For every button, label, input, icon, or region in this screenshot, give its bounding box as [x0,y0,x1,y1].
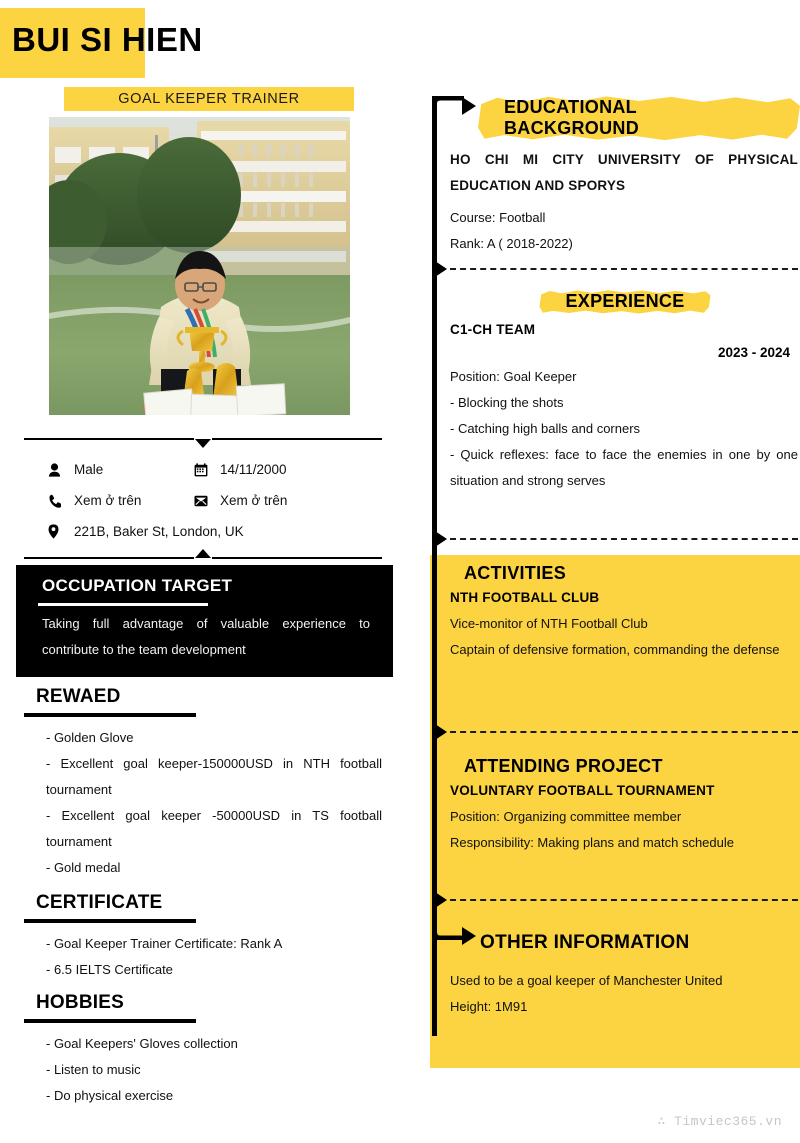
section-title: EXPERIENCE [565,291,684,311]
job-title-banner: GOAL KEEPER TRAINER [64,87,354,111]
title-underline [38,603,208,606]
other-info-line: Height: 1M91 [450,994,800,1020]
contact-item-address: 221B, Baker St, London, UK [24,524,382,539]
calendar-icon [194,463,220,477]
experience-line: Position: Goal Keeper [450,364,800,390]
left-column: BUI SI HIEN GOAL KEEPER TRAINER [0,0,418,1143]
candidate-photo [49,117,350,415]
section-title: REWAED [24,686,384,708]
section-hobbies: HOBBIES - Goal Keepers' Gloves collectio… [24,992,384,1109]
site-watermark: ∴ Timviec365.vn [657,1114,782,1129]
education-school: HO CHI MI CITY UNIVERSITY OF PHYSICAL ED… [450,147,798,199]
arrow-marker-icon [432,722,447,742]
hobbies-list: - Goal Keepers' Gloves collection - List… [24,1023,384,1109]
section-title: OTHER INFORMATION [450,932,800,954]
contact-row: Xem ở trên Xem ở trên [24,485,382,516]
experience-line: - Quick reflexes: face to face the enemi… [450,442,798,494]
envelope-icon [194,495,220,507]
phone-icon [48,494,74,508]
contact-value: Male [74,462,103,477]
occupation-target-title: OCCUPATION TARGET [42,576,232,596]
experience-title-highlight: EXPERIENCE [539,288,710,316]
section-education: EDUCATIONAL BACKGROUND HO CHI MI CITY UN… [450,94,800,257]
contact-item-email: Xem ở trên [194,493,382,508]
arrow-marker-icon [432,529,447,549]
notch-down-icon [195,439,211,448]
education-line: Course: Football [450,205,800,231]
list-item: - Do physical exercise [24,1083,384,1109]
contact-grid: Male 14/11/2000 Xem ở trên [24,440,382,557]
activities-line: Vice-monitor of NTH Football Club [450,611,800,637]
experience-years: 2023 - 2024 [450,345,800,360]
section-divider [450,731,798,733]
section-activities: ACTIVITIES NTH FOOTBALL CLUB Vice-monito… [450,563,800,663]
list-item: - Excellent goal keeper -50000USD in TS … [24,803,384,855]
contact-row: Male 14/11/2000 [24,454,382,485]
cv-page: BUI SI HIEN GOAL KEEPER TRAINER [0,0,800,1143]
section-title: CERTIFICATE [24,892,384,914]
activities-org: NTH FOOTBALL CLUB [450,590,800,605]
experience-org: C1-CH TEAM [450,322,800,337]
list-item: - Listen to music [24,1057,384,1083]
contact-value: 14/11/2000 [220,462,287,477]
project-line: Responsibility: Making plans and match s… [450,830,800,856]
project-line: Position: Organizing committee member [450,804,800,830]
other-info-line: Used to be a goal keeper of Manchester U… [450,968,800,994]
section-other-information: OTHER INFORMATION Used to be a goal keep… [450,932,800,1020]
reward-list: - Golden Glove - Excellent goal keeper-1… [24,717,384,881]
section-divider [450,899,798,901]
activities-line: Captain of defensive formation, commandi… [450,637,798,663]
section-reward: REWAED - Golden Glove - Excellent goal k… [24,686,384,881]
list-item: - Golden Glove [24,725,384,751]
section-title: ACTIVITIES [450,563,800,584]
education-line: Rank: A ( 2018-2022) [450,231,800,257]
certificate-list: - Goal Keeper Trainer Certificate: Rank … [24,923,384,983]
section-divider [450,538,798,540]
person-icon [48,463,74,477]
contact-item-phone: Xem ở trên [24,493,194,508]
contact-bottom-rule [24,557,382,559]
list-item: - Goal Keeper Trainer Certificate: Rank … [24,931,384,957]
education-title-highlight: EDUCATIONAL BACKGROUND [478,94,800,143]
arrow-marker-icon [432,890,447,910]
photo-illustration [49,117,350,415]
candidate-name: BUI SI HIEN [12,18,203,62]
location-pin-icon [48,524,74,539]
occupation-target-body: Taking full advantage of valuable experi… [42,611,370,663]
list-item: - 6.5 IELTS Certificate [24,957,384,983]
contact-item-gender: Male [24,462,194,477]
section-experience: EXPERIENCE C1-CH TEAM 2023 - 2024 Positi… [450,288,800,494]
project-org: VOLUNTARY FOOTBALL TOURNAMENT [450,783,800,798]
section-title: EDUCATIONAL BACKGROUND [504,97,639,138]
contact-value: 221B, Baker St, London, UK [74,524,244,539]
right-column: EDUCATIONAL BACKGROUND HO CHI MI CITY UN… [418,0,800,1143]
experience-line: - Blocking the shots [450,390,800,416]
contact-value: Xem ở trên [74,493,141,508]
list-item: - Goal Keepers' Gloves collection [24,1031,384,1057]
experience-line: - Catching high balls and corners [450,416,800,442]
section-divider [450,268,798,270]
list-item: - Excellent goal keeper-150000USD in NTH… [24,751,384,803]
section-title: HOBBIES [24,992,384,1014]
contact-item-birthday: 14/11/2000 [194,462,382,477]
arrow-marker-icon [432,259,447,279]
contact-block: Male 14/11/2000 Xem ở trên [24,438,382,559]
section-attending-project: ATTENDING PROJECT VOLUNTARY FOOTBALL TOU… [450,756,800,856]
section-title: ATTENDING PROJECT [450,756,800,777]
contact-row: 221B, Baker St, London, UK [24,516,382,547]
occupation-target-card: OCCUPATION TARGET Taking full advantage … [16,565,393,677]
list-item: - Gold medal [24,855,384,881]
section-certificate: CERTIFICATE - Goal Keeper Trainer Certif… [24,892,384,983]
notch-up-icon [195,549,211,558]
contact-top-rule [24,438,382,440]
contact-value: Xem ở trên [220,493,287,508]
